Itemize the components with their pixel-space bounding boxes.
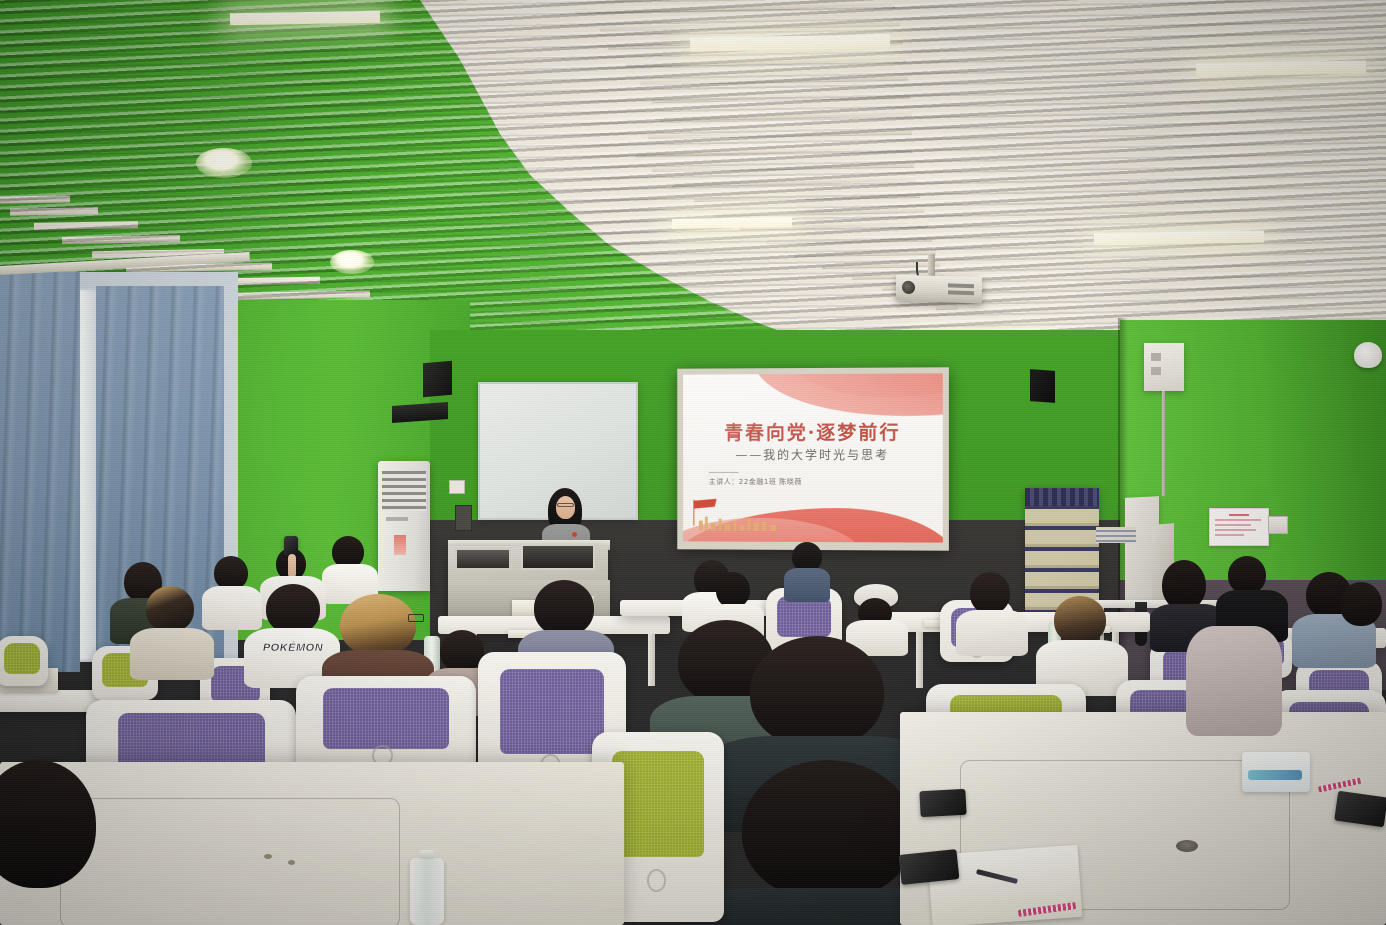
- raised-arm: [288, 554, 296, 578]
- ac-sticker: [394, 535, 406, 555]
- ceiling-baffle-tooth: [0, 195, 70, 203]
- ac-wall-vent: [1151, 353, 1161, 361]
- ceiling-baffle-tooth: [636, 146, 912, 158]
- poster-text-line: [1215, 519, 1261, 521]
- student-head: [214, 556, 248, 590]
- chair-mesh: [500, 669, 604, 753]
- chair-purple-foreground[interactable]: [296, 676, 476, 772]
- desk-monitor-secondary: [521, 544, 595, 570]
- desk-monitor: [455, 548, 511, 570]
- ceiling-baffle-tooth: [652, 161, 914, 173]
- student-head: [750, 636, 884, 748]
- ac-vent-grille: [382, 471, 426, 511]
- ceiling-projector: [896, 274, 982, 303]
- ceiling-baffle-tooth: [694, 191, 920, 202]
- student: [1040, 596, 1122, 690]
- student: [960, 572, 1022, 650]
- ceiling-baffle-tooth: [575, 1, 895, 14]
- pocket-organizer-top: [1025, 488, 1099, 506]
- wall-outlet-box: [449, 480, 465, 494]
- projector-lens-icon: [902, 281, 915, 294]
- phone-on-table[interactable]: [899, 849, 960, 885]
- poster-text-line: [1215, 534, 1244, 536]
- phone-held-up[interactable]: [284, 536, 298, 556]
- ceiling-downlight: [196, 148, 252, 178]
- table-seam: [60, 798, 400, 925]
- wall-speaker-icon: [423, 361, 452, 398]
- chair-lumbar-detail: [647, 869, 665, 892]
- ceiling-panel-light: [690, 34, 890, 51]
- poster-text-line: [1215, 529, 1256, 531]
- wall-control-panel: [455, 505, 472, 531]
- wall-poster: [1209, 508, 1269, 546]
- ac-wall-vent: [1151, 367, 1161, 375]
- wall-speaker-right-icon: [1030, 369, 1055, 403]
- ceiling-panel-light: [1094, 231, 1264, 246]
- student: [136, 586, 206, 672]
- glasses-icon: [408, 614, 424, 622]
- student-head: [1228, 556, 1266, 594]
- student-head: [0, 760, 96, 888]
- chair-mesh: [4, 643, 40, 675]
- student-head: [716, 572, 750, 608]
- ac-logo: [386, 517, 408, 521]
- student-torso: [130, 628, 214, 680]
- student-head: [534, 580, 594, 636]
- student-head-dyed-hair: [146, 586, 194, 632]
- poster-text-line: [1215, 524, 1251, 526]
- table-crumb: [264, 854, 272, 859]
- wall-air-conditioner: [1144, 343, 1184, 391]
- poster-title-line: [1229, 514, 1249, 516]
- slide-subtitle: ——我的大学时光与思考: [683, 446, 943, 463]
- student-head: [1054, 596, 1106, 644]
- ceiling-panel-light: [1196, 61, 1366, 77]
- projector-vent: [948, 283, 974, 288]
- phone-on-table[interactable]: [919, 789, 966, 817]
- student-torso: [784, 568, 830, 602]
- chair-mesh: [612, 751, 704, 857]
- slide-title: 青春向党·逐梦前行: [683, 418, 943, 445]
- ceiling-baffle-tooth: [652, 92, 910, 104]
- student: [786, 542, 828, 598]
- student-head: [742, 760, 914, 900]
- table-leg: [648, 634, 655, 686]
- ac-wall-support-pole: [1162, 391, 1165, 496]
- curtain-panel-left[interactable]: [0, 272, 80, 672]
- light-switch-plate[interactable]: [1268, 516, 1288, 534]
- stacked-books: [1096, 527, 1136, 543]
- tissue-pack-band: [1248, 770, 1302, 780]
- ceiling-baffle-tooth: [640, 74, 908, 86]
- ceiling-baffle-tooth: [716, 206, 924, 217]
- ceiling-baffle-tooth: [794, 248, 936, 257]
- student: [1330, 582, 1386, 668]
- student-head: [970, 572, 1010, 614]
- dome-camera-icon: [1354, 342, 1382, 368]
- bottle-cap: [420, 850, 434, 859]
- slide-flag-icon: [687, 496, 721, 526]
- table-cable-port: [1176, 840, 1198, 852]
- ceiling-baffle-tooth: [600, 19, 900, 31]
- ceiling-baffle-tooth: [660, 110, 912, 121]
- party-badge-icon: [572, 532, 577, 537]
- slide-divider: [709, 472, 739, 473]
- chair-green[interactable]: [0, 636, 48, 686]
- student-head: [266, 584, 320, 634]
- water-bottle[interactable]: [410, 858, 444, 925]
- student-head-long-hair: [1162, 560, 1206, 610]
- projector-vent: [948, 290, 974, 295]
- ceiling-panel-light: [672, 217, 792, 229]
- projection-screen: 青春向党·逐梦前行 ——我的大学时光与思考 主讲人：22金融1班 陈晓薇: [677, 367, 949, 550]
- ceiling-downlight: [330, 250, 374, 274]
- tissue-pack[interactable]: [1242, 752, 1310, 792]
- floor-air-conditioner: [378, 461, 430, 591]
- ceiling-baffle-tooth: [626, 56, 906, 68]
- student-head-blonde: [340, 594, 416, 656]
- ceiling-baffle-tooth: [648, 128, 912, 140]
- student-edge-left: [0, 760, 96, 925]
- student: [1186, 626, 1282, 746]
- table-crumb: [288, 860, 295, 865]
- slide-presenter-line: 主讲人：22金融1班 陈晓薇: [709, 477, 802, 487]
- student-head: [1340, 582, 1382, 626]
- chair-mesh: [323, 688, 449, 748]
- student-torso: [956, 610, 1028, 656]
- classroom-photo-scene: 青春向党·逐梦前行 ——我的大学时光与思考 主讲人：22金融1班 陈晓薇: [0, 0, 1386, 925]
- shirt-text: POKÉMON: [260, 642, 326, 654]
- ceiling-baffle-tooth: [672, 176, 916, 187]
- presentation-slide: 青春向党·逐梦前行 ——我的大学时光与思考 主讲人：22金融1班 陈晓薇: [683, 373, 943, 542]
- ceiling-baffle-tooth: [766, 235, 932, 245]
- glasses-icon: [557, 503, 574, 507]
- presenter-face: [556, 496, 575, 519]
- student-torso: [1186, 626, 1282, 736]
- ceiling-baffle-tooth: [936, 303, 958, 310]
